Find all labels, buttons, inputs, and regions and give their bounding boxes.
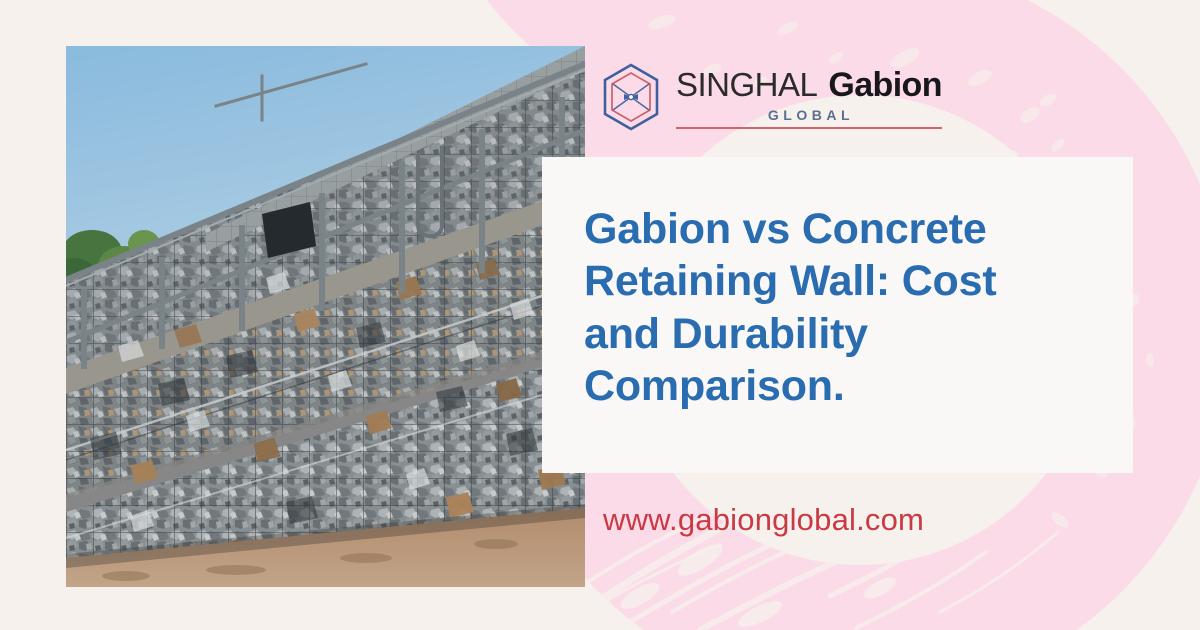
website-url[interactable]: www.gabionglobal.com [603, 502, 924, 538]
brand-wordmark: SINGHAL Gabion GLOBAL [676, 66, 942, 129]
brand-tagline: GLOBAL [676, 107, 942, 123]
hexagon-bowtie-logo-icon [600, 62, 662, 132]
brand-logo[interactable]: SINGHAL Gabion GLOBAL [600, 62, 942, 132]
gabion-wall-photo [66, 46, 585, 587]
brand-name-primary: SINGHAL [676, 66, 817, 104]
page-title: Gabion vs Concrete Retaining Wall: Cost … [584, 203, 1084, 413]
poster-canvas: SINGHAL Gabion GLOBAL Gabion vs Concrete… [0, 0, 1200, 630]
photo-image [66, 46, 585, 587]
brand-underline-rule [676, 127, 942, 129]
headline-card: Gabion vs Concrete Retaining Wall: Cost … [542, 157, 1133, 473]
brand-name-secondary: Gabion [828, 66, 942, 105]
